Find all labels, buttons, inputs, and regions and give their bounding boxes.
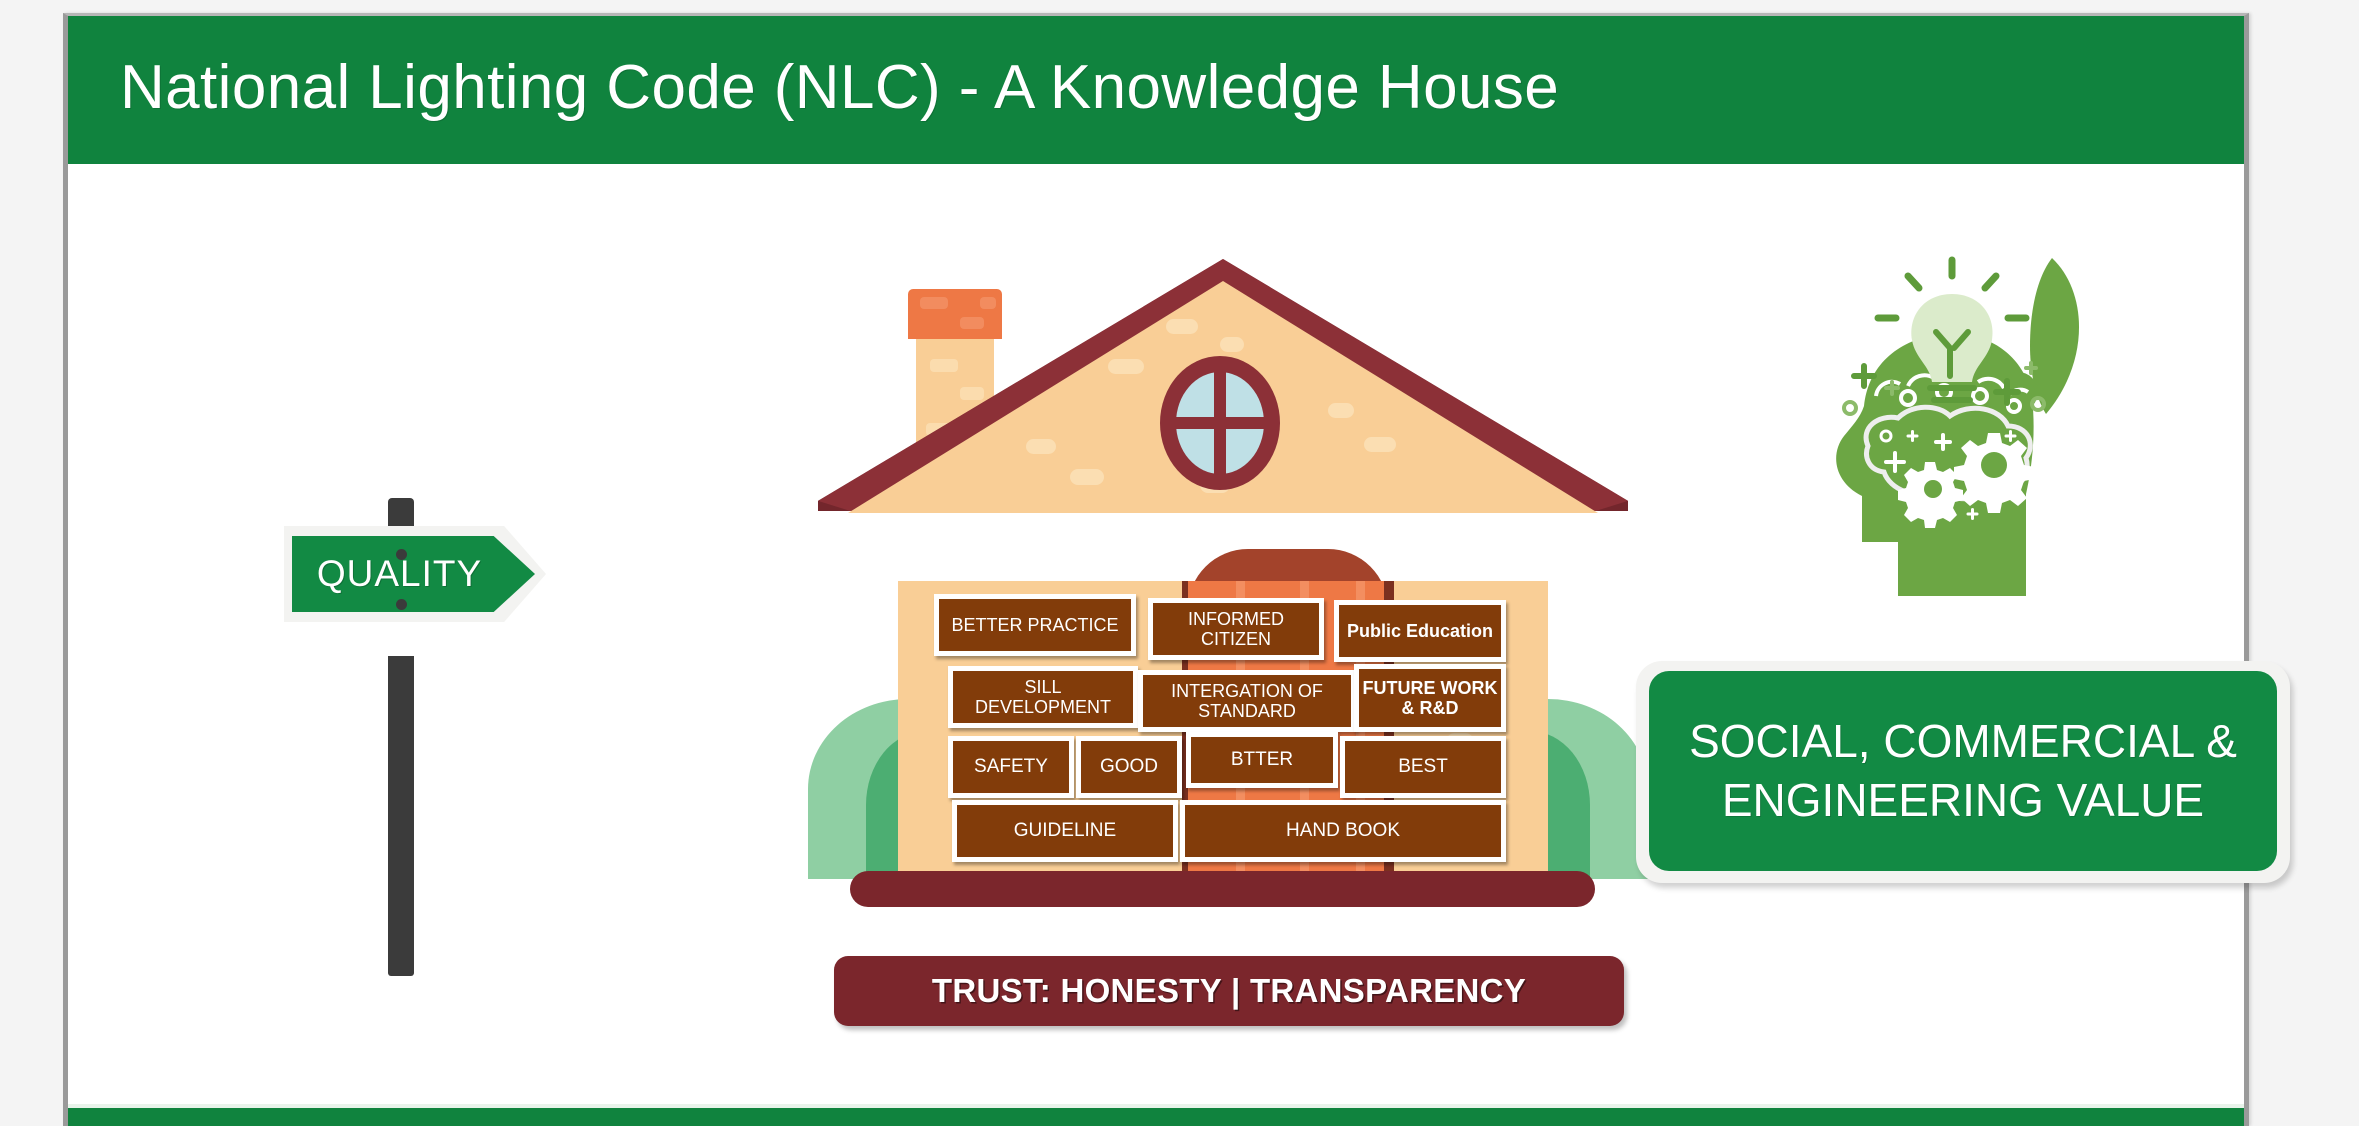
gable-spot bbox=[1328, 403, 1354, 418]
chimney-cap-spot bbox=[980, 297, 996, 309]
brick-public-education[interactable]: Public Education bbox=[1334, 600, 1506, 662]
signpost-pole-bottom bbox=[388, 656, 414, 976]
brick-hand-book[interactable]: HAND BOOK bbox=[1180, 800, 1506, 862]
quality-signpost: QUALITY bbox=[280, 476, 660, 976]
slide-footer-bar bbox=[68, 1104, 2244, 1126]
brick-intergation-of-standard[interactable]: INTERGATION OF STANDARD bbox=[1138, 670, 1356, 732]
house-plinth bbox=[850, 871, 1595, 907]
brick-best[interactable]: BEST bbox=[1340, 736, 1506, 798]
gable-spot bbox=[1070, 469, 1104, 485]
brick-future-work-rnd[interactable]: FUTURE WORK & R&D bbox=[1354, 664, 1506, 732]
chimney-cap-spot bbox=[960, 317, 984, 329]
head-with-lightbulb-and-gears-icon bbox=[1820, 246, 2110, 596]
brick-informed-citizen[interactable]: INFORMED CITIZEN bbox=[1148, 598, 1324, 660]
gable-spot bbox=[1108, 359, 1144, 374]
gable-spot bbox=[1166, 319, 1198, 334]
slide-canvas: National Lighting Code (NLC) - A Knowled… bbox=[0, 0, 2359, 1126]
gable-spot bbox=[1026, 439, 1056, 454]
presentation-slide: National Lighting Code (NLC) - A Knowled… bbox=[63, 13, 2249, 1126]
chimney-cap-spot bbox=[920, 297, 948, 309]
trust-banner[interactable]: TRUST: HONESTY | TRANSPARENCY bbox=[834, 956, 1624, 1026]
brick-safety[interactable]: SAFETY bbox=[948, 736, 1074, 798]
value-box-label: SOCIAL, COMMERCIAL & ENGINEERING VALUE bbox=[1689, 712, 2237, 830]
chimney-brick-spot bbox=[930, 359, 958, 372]
brick-guideline[interactable]: GUIDELINE bbox=[952, 800, 1178, 862]
brick-sill-development[interactable]: SILL DEVELOPMENT bbox=[948, 666, 1138, 728]
value-box-line-2: ENGINEERING VALUE bbox=[1722, 774, 2204, 826]
window-mullion-horizontal bbox=[1176, 417, 1264, 429]
chimney-brick-spot bbox=[960, 387, 984, 400]
trust-banner-label: TRUST: HONESTY | TRANSPARENCY bbox=[932, 972, 1526, 1010]
value-box[interactable]: SOCIAL, COMMERCIAL & ENGINEERING VALUE bbox=[1649, 671, 2277, 871]
signpost-label: QUALITY bbox=[292, 536, 507, 612]
brick-btter[interactable]: BTTER bbox=[1186, 732, 1338, 788]
brick-good[interactable]: GOOD bbox=[1076, 736, 1182, 798]
page-title: National Lighting Code (NLC) - A Knowled… bbox=[120, 52, 1559, 123]
gable-spot bbox=[1364, 437, 1396, 452]
slide-title-bar: National Lighting Code (NLC) - A Knowled… bbox=[68, 16, 2244, 164]
gable-spot bbox=[1220, 337, 1244, 352]
value-box-line-1: SOCIAL, COMMERCIAL & bbox=[1689, 715, 2237, 767]
brick-better-practice[interactable]: BETTER PRACTICE bbox=[934, 594, 1136, 656]
